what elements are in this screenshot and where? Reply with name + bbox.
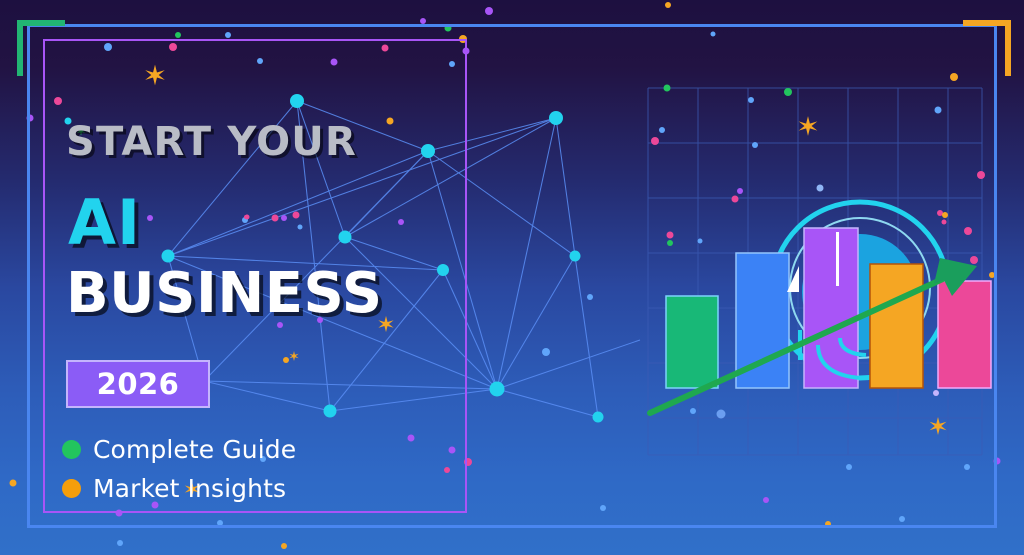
feature-list: Complete Guide Market Insights (62, 430, 296, 508)
bar-1 (666, 296, 718, 388)
bullet-dot-icon (62, 479, 81, 498)
headline-block: START YOUR AI BUSINESS 2026 Complete Gui… (0, 0, 520, 555)
frame-border-right (994, 24, 997, 528)
year-badge-label: 2026 (97, 367, 180, 401)
bar-3 (804, 228, 858, 388)
poster-canvas: START YOUR AI BUSINESS 2026 Complete Gui… (0, 0, 1024, 555)
list-item: Complete Guide (62, 430, 296, 469)
bullet-dot-icon (62, 440, 81, 459)
list-item: Market Insights (62, 469, 296, 508)
list-item-label: Complete Guide (93, 435, 296, 464)
corner-bracket-top-right-icon (963, 20, 1011, 76)
chart-bars (666, 228, 991, 388)
list-item-label: Market Insights (93, 474, 286, 503)
bar-4 (870, 264, 923, 388)
bar-5 (938, 281, 991, 388)
headline-accent: AI (68, 192, 141, 254)
year-badge: 2026 (66, 360, 210, 408)
headline-text: BUSINESS (66, 266, 383, 322)
kicker-text: START YOUR (66, 119, 357, 165)
